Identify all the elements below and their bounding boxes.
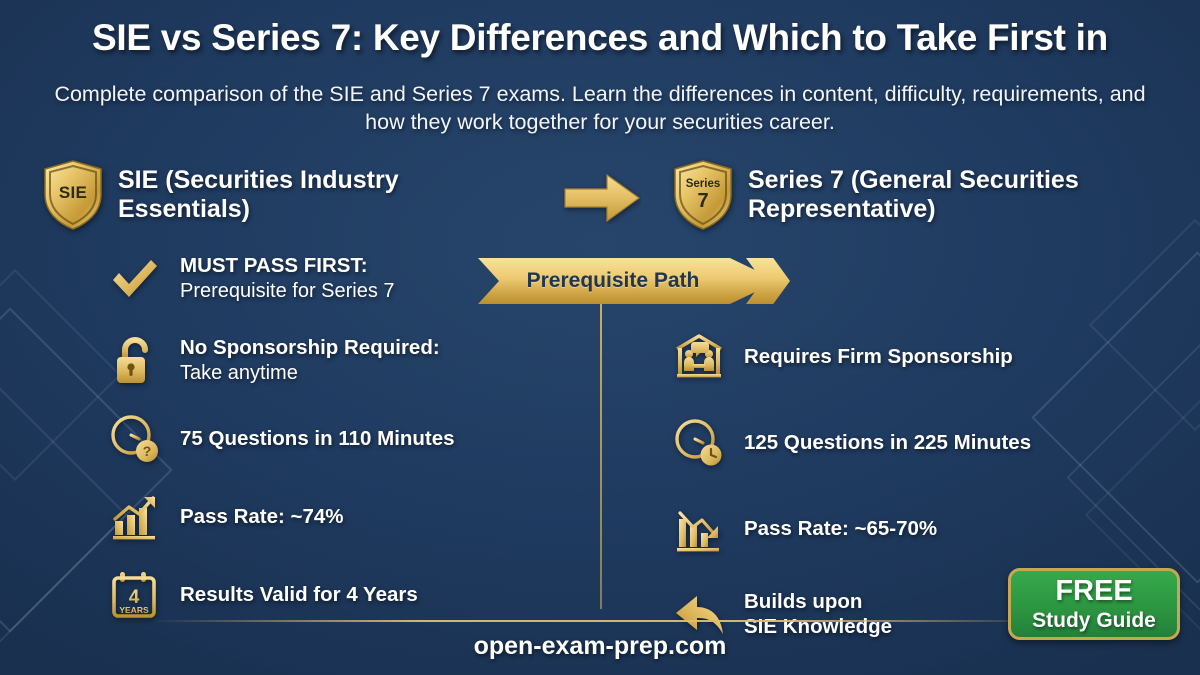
list-item: 125 Questions in 225 Minutes (672, 416, 1142, 470)
sie-feature-list: MUST PASS FIRST: Prerequisite for Series… (108, 252, 548, 646)
open-lock-icon (108, 334, 162, 388)
infographic-canvas: SIE vs Series 7: Key Differences and Whi… (0, 0, 1200, 675)
shield-icon: SIE (42, 160, 104, 230)
list-item: No Sponsorship Required: Take anytime (108, 334, 548, 388)
list-item-title: 125 Questions in 225 Minutes (744, 431, 1031, 456)
series7-heading: Series 7 (General Securities Representat… (748, 166, 1172, 224)
clock-icon (672, 416, 726, 470)
chart-down-icon (672, 502, 726, 556)
list-item-title: Pass Rate: ~74% (180, 505, 344, 530)
list-item-title: 75 Questions in 110 Minutes (180, 427, 455, 452)
list-item: Requires Firm Sponsorship (672, 330, 1142, 384)
shield-label: Series 7 (672, 160, 734, 230)
list-item: ? 75 Questions in 110 Minutes (108, 412, 548, 466)
page-subtitle: Complete comparison of the SIE and Serie… (50, 80, 1150, 137)
sie-heading: SIE (Securities Industry Essentials) (118, 166, 512, 224)
chart-up-icon (108, 490, 162, 544)
clock-question-icon: ? (108, 412, 162, 466)
svg-text:?: ? (143, 443, 152, 459)
list-item-title: Results Valid for 4 Years (180, 583, 418, 608)
list-item-subtitle: Take anytime (180, 361, 440, 386)
free-study-guide-badge[interactable]: FREE Study Guide (1008, 568, 1180, 640)
calendar-icon: 4 YEARS (108, 568, 162, 622)
list-item: MUST PASS FIRST: Prerequisite for Series… (108, 252, 548, 306)
checkmark-icon (108, 252, 162, 306)
series7-column-header: Series 7 Series 7 (General Securities Re… (672, 160, 1172, 230)
list-item-subtitle: Prerequisite for Series 7 (180, 279, 395, 304)
list-item: Pass Rate: ~74% (108, 490, 548, 544)
study-guide-label: Study Guide (1032, 610, 1156, 631)
footer-divider (150, 620, 1050, 622)
list-item-title: Builds upon (744, 590, 892, 615)
page-title: SIE vs Series 7: Key Differences and Whi… (0, 18, 1200, 58)
shield-label-line2: 7 (697, 191, 708, 211)
calendar-label: YEARS (119, 605, 149, 615)
list-item-title: No Sponsorship Required: (180, 336, 440, 361)
column-divider (600, 304, 602, 609)
list-item: Pass Rate: ~65-70% (672, 502, 1142, 556)
list-item-title: Pass Rate: ~65-70% (744, 517, 937, 542)
shield-label: SIE (42, 160, 104, 230)
shield-label-line1: Series (686, 179, 721, 191)
shield-icon: Series 7 (672, 160, 734, 230)
list-item: 4 YEARS Results Valid for 4 Years (108, 568, 548, 622)
arrow-right-icon (563, 172, 641, 224)
sie-column-header: SIE SIE (Securities Industry Essentials) (42, 160, 512, 230)
list-item-title: MUST PASS FIRST: (180, 254, 395, 279)
free-label: FREE (1055, 577, 1132, 606)
firm-sponsorship-icon (672, 330, 726, 384)
list-item-title: Requires Firm Sponsorship (744, 345, 1013, 370)
